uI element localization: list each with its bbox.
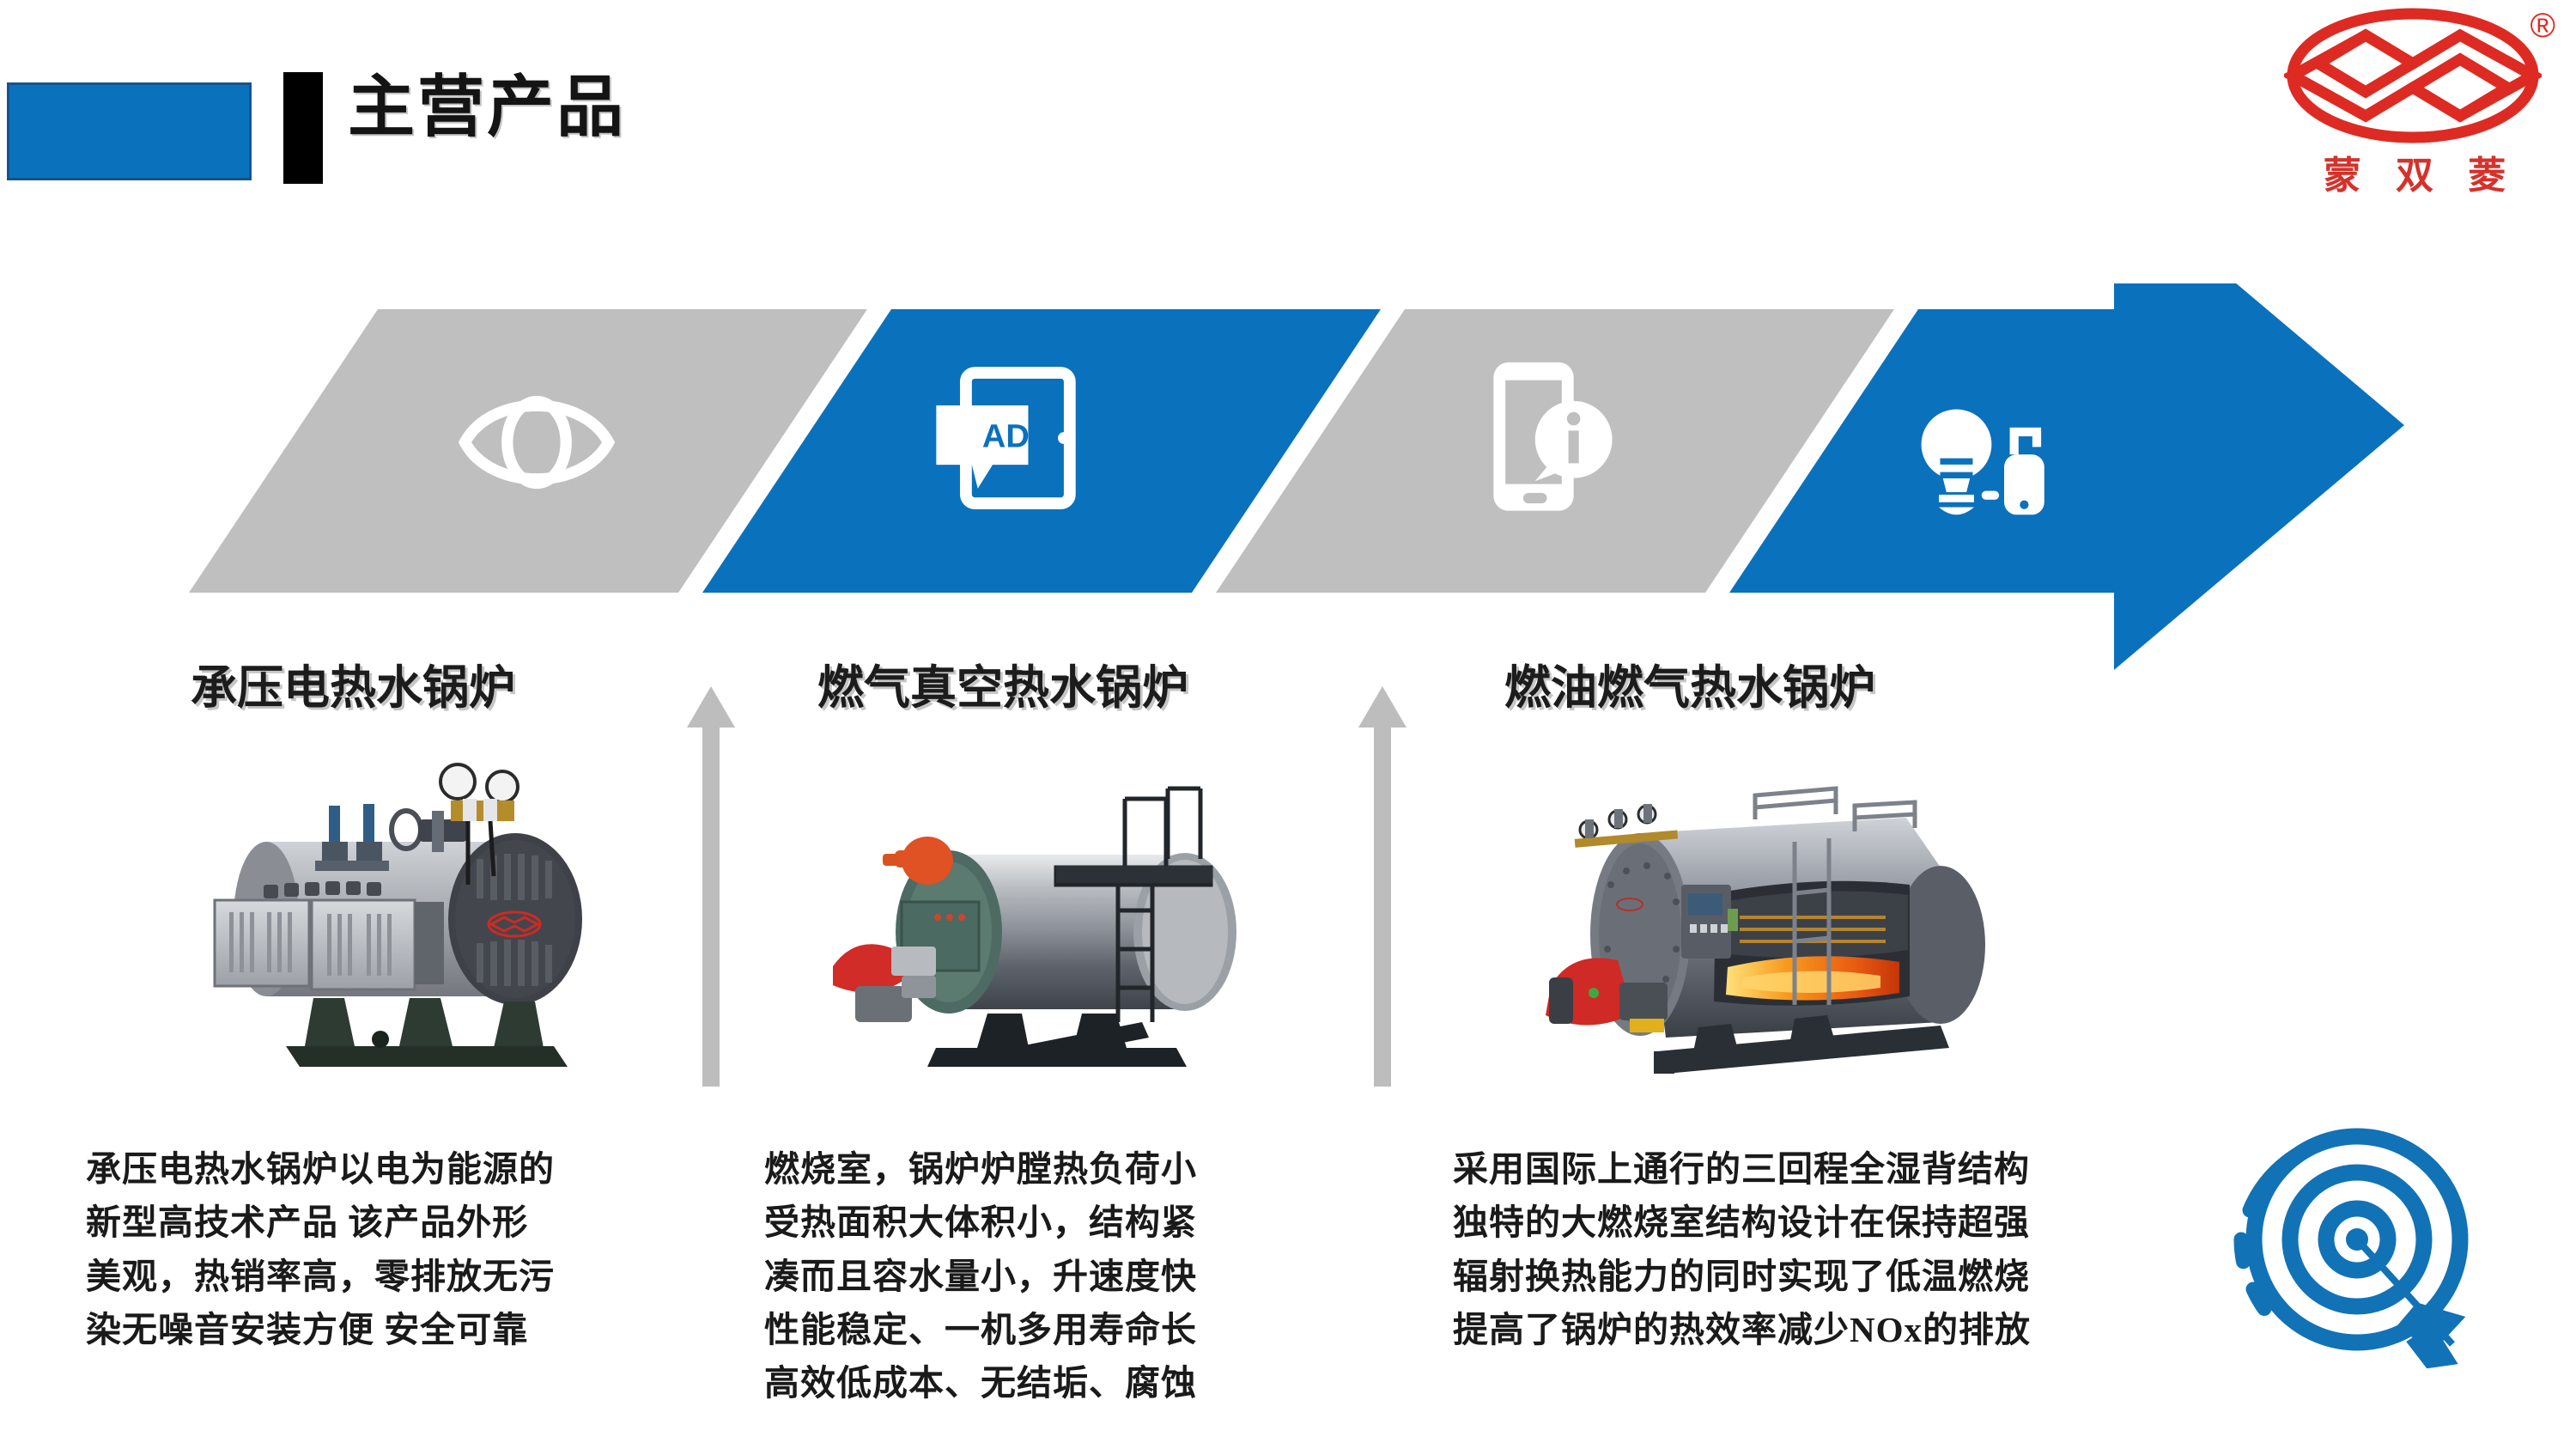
- eye-icon: [455, 361, 618, 524]
- slide-canvas: 主营产品 ® 蒙 双 菱 AD: [0, 0, 2576, 1449]
- divider-up-arrow-1: [685, 683, 737, 1087]
- gas-vacuum-hot-water-boiler-photo: [799, 764, 1279, 1099]
- header-blue-accent-box: [7, 82, 252, 180]
- product-title-1: 承压电热水锅炉: [191, 663, 515, 714]
- divider-up-arrow-2: [1357, 683, 1408, 1087]
- product-title-3: 燃油燃气热水锅炉: [1504, 663, 1875, 714]
- phone-info-icon: [1468, 356, 1631, 520]
- header-black-bar: [283, 72, 323, 184]
- target-bullseye-arrow-icon: [2215, 1112, 2499, 1379]
- double-diamond-ellipse-logo-icon: [2284, 7, 2542, 144]
- product-body-1: 承压电热水锅炉以电为能源的 新型高技术产品 该产品外形 美观，热销率高，零排放无…: [86, 1142, 653, 1356]
- oil-gas-hot-water-boiler-photo: [1537, 764, 2018, 1099]
- logo-text: 蒙 双 菱: [2277, 144, 2552, 199]
- product-body-3: 采用国际上通行的三回程全湿背结构 独特的大燃烧室结构设计在保持超强 辐射换热能力…: [1453, 1142, 2226, 1356]
- product-title-2: 燃气真空热水锅炉: [817, 663, 1188, 714]
- company-logo: ® 蒙 双 菱: [2277, 7, 2561, 213]
- lightbulb-waterheater-icon: [1906, 378, 2069, 541]
- ad-tablet-speech-icon: AD: [927, 356, 1091, 520]
- process-arrow-band: [0, 283, 2576, 799]
- registered-trademark-icon: ®: [2530, 9, 2555, 43]
- electric-hot-water-boiler-photo: [185, 747, 665, 1091]
- product-body-2: 燃烧室，锅炉炉膛热负荷小 受热面积大体积小，结构紧 凑而且容水量小，升速度快 性…: [764, 1142, 1348, 1410]
- svg-text:AD: AD: [982, 418, 1030, 454]
- page-title: 主营产品: [348, 70, 626, 144]
